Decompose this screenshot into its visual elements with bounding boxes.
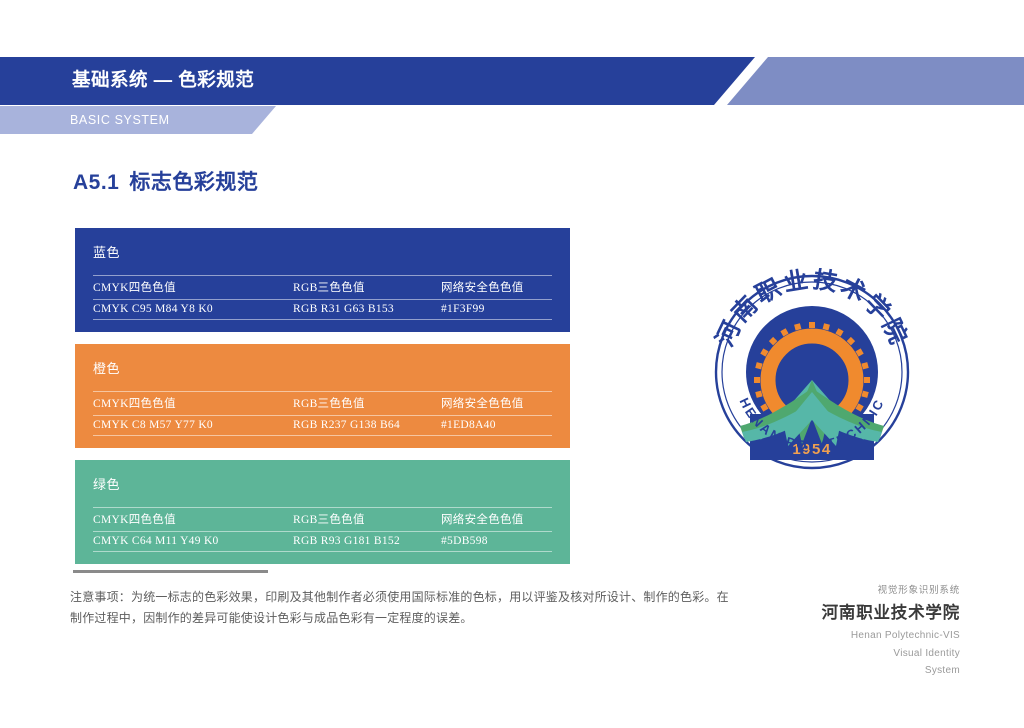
value-cmyk: CMYK C64 M11 Y49 K0 [93,532,293,552]
value-cmyk: CMYK C8 M57 Y77 K0 [93,416,293,436]
color-card-name: 蓝色 [93,242,552,261]
color-card-name: 橙色 [93,358,552,377]
value-rgb: RGB R93 G181 B152 [293,532,441,552]
table-header-row: CMYK四色色值 RGB三色色值 网络安全色色值 [93,392,552,416]
header-rgb: RGB三色色值 [293,276,441,300]
color-card-list: 蓝色 CMYK四色色值 RGB三色色值 网络安全色色值 CMYK C95 M84… [75,228,570,576]
table-header-row: CMYK四色色值 RGB三色色值 网络安全色色值 [93,276,552,300]
value-web: #1F3F99 [441,300,552,320]
note-text: 注意事项：为统一标志的色彩效果，印刷及其他制作者必须使用国际标准的色标，用以评鉴… [70,587,730,629]
footer-en-line3: System [822,664,960,679]
header-web: 网络安全色色值 [441,392,552,416]
slide-page: 基础系统 — 色彩规范 BASIC SYSTEM A5.1标志色彩规范 蓝色 C… [0,0,1024,728]
color-value-table: CMYK四色色值 RGB三色色值 网络安全色色值 CMYK C8 M57 Y77… [93,391,552,436]
color-card-orange: 橙色 CMYK四色色值 RGB三色色值 网络安全色色值 CMYK C8 M57 … [75,344,570,448]
header-rgb: RGB三色色值 [293,392,441,416]
footer-en-line1: Henan Polytechnic-VIS [822,629,960,644]
value-rgb: RGB R237 G138 B64 [293,416,441,436]
header-web: 网络安全色色值 [441,508,552,532]
table-value-row: CMYK C95 M84 Y8 K0 RGB R31 G63 B153 #1F3… [93,300,552,320]
table-value-row: CMYK C8 M57 Y77 K0 RGB R237 G138 B64 #1E… [93,416,552,436]
header-rgb: RGB三色色值 [293,508,441,532]
footer-brand: 视觉形象识别系统 河南职业技术学院 Henan Polytechnic-VIS … [822,583,960,679]
section-title: A5.1标志色彩规范 [73,166,258,196]
value-rgb: RGB R31 G63 B153 [293,300,441,320]
header-cmyk: CMYK四色色值 [93,392,293,416]
table-value-row: CMYK C64 M11 Y49 K0 RGB R93 G181 B152 #5… [93,532,552,552]
color-value-table: CMYK四色色值 RGB三色色值 网络安全色色值 CMYK C64 M11 Y4… [93,507,552,552]
footer-en-line2: Visual Identity [822,647,960,662]
color-card-name: 绿色 [93,474,552,493]
color-card-green: 绿色 CMYK四色色值 RGB三色色值 网络安全色色值 CMYK C64 M11… [75,460,570,564]
value-cmyk: CMYK C95 M84 Y8 K0 [93,300,293,320]
page-header: 基础系统 — 色彩规范 BASIC SYSTEM [0,57,1024,132]
header-cmyk: CMYK四色色值 [93,508,293,532]
university-logo: 1954 河南职业技术学院 HENAN POLYTECHNIC [712,268,912,484]
footer-title-cn: 河南职业技术学院 [822,600,960,626]
value-web: #5DB598 [441,532,552,552]
section-title-text: 标志色彩规范 [129,171,258,194]
section-number: A5.1 [73,171,119,194]
color-value-table: CMYK四色色值 RGB三色色值 网络安全色色值 CMYK C95 M84 Y8… [93,275,552,320]
header-web: 网络安全色色值 [441,276,552,300]
value-web: #1ED8A40 [441,416,552,436]
logo-emblem-icon: 1954 河南职业技术学院 HENAN POLYTECHNIC [712,268,912,484]
footer-subtitle-cn: 视觉形象识别系统 [822,583,960,598]
header-subtitle: BASIC SYSTEM [70,111,170,129]
table-header-row: CMYK四色色值 RGB三色色值 网络安全色色值 [93,508,552,532]
note-divider [73,570,268,573]
color-card-blue: 蓝色 CMYK四色色值 RGB三色色值 网络安全色色值 CMYK C95 M84… [75,228,570,332]
header-title: 基础系统 — 色彩规范 [72,65,254,95]
header-cmyk: CMYK四色色值 [93,276,293,300]
